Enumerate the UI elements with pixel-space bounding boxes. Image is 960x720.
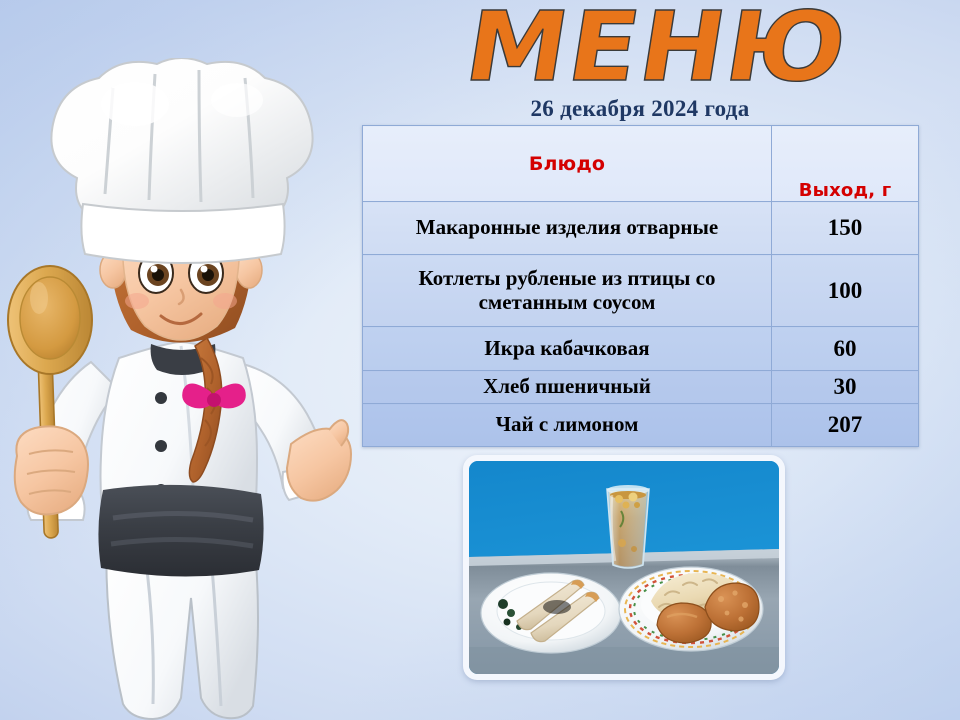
table-row: Икра кабачковая 60	[363, 327, 919, 371]
cell-dish: Макаронные изделия отварные	[363, 202, 772, 255]
meal-photo-svg	[469, 461, 779, 674]
cell-output: 207	[772, 404, 919, 447]
cell-output: 100	[772, 255, 919, 327]
main-dish-plate	[619, 567, 763, 651]
coat-button	[155, 392, 167, 404]
title-text: МЕНЮ	[458, 2, 856, 98]
tea-glass	[607, 485, 649, 568]
table-row: Чай с лимоном 207	[363, 404, 919, 447]
cell-dish: Хлеб пшеничный	[363, 371, 772, 404]
title-svg: МЕНЮ	[352, 2, 952, 98]
meal-photo-frame	[463, 455, 785, 680]
table-row: Котлеты рубленые из птицы со сметанным с…	[363, 255, 919, 327]
chef-hat	[51, 58, 312, 263]
menu-date: 26 декабря 2024 года	[360, 96, 920, 122]
slide-canvas: МЕНЮ 26 декабря 2024 года Блюдо Выход, г…	[0, 0, 960, 720]
column-header-dish: Блюдо	[363, 126, 772, 202]
cell-dish: Котлеты рубленые из птицы со сметанным с…	[363, 255, 772, 327]
table-header-row: Блюдо Выход, г	[363, 126, 919, 202]
cell-output: 60	[772, 327, 919, 371]
chef-left-hand	[15, 426, 88, 514]
menu-table: Блюдо Выход, г Макаронные изделия отварн…	[362, 125, 919, 447]
cell-output: 30	[772, 371, 919, 404]
table-row: Макаронные изделия отварные 150	[363, 202, 919, 255]
meal-photo	[469, 461, 779, 674]
table-row: Хлеб пшеничный 30	[363, 371, 919, 404]
coat-button	[155, 440, 167, 452]
cell-dish: Чай с лимоном	[363, 404, 772, 447]
cell-output: 150	[772, 202, 919, 255]
column-header-output: Выход, г	[772, 126, 919, 202]
page-title: МЕНЮ	[352, 2, 952, 98]
cell-dish: Икра кабачковая	[363, 327, 772, 371]
chef-illustration	[0, 58, 365, 720]
bread-plate	[481, 573, 621, 653]
chef-apron	[98, 485, 263, 577]
